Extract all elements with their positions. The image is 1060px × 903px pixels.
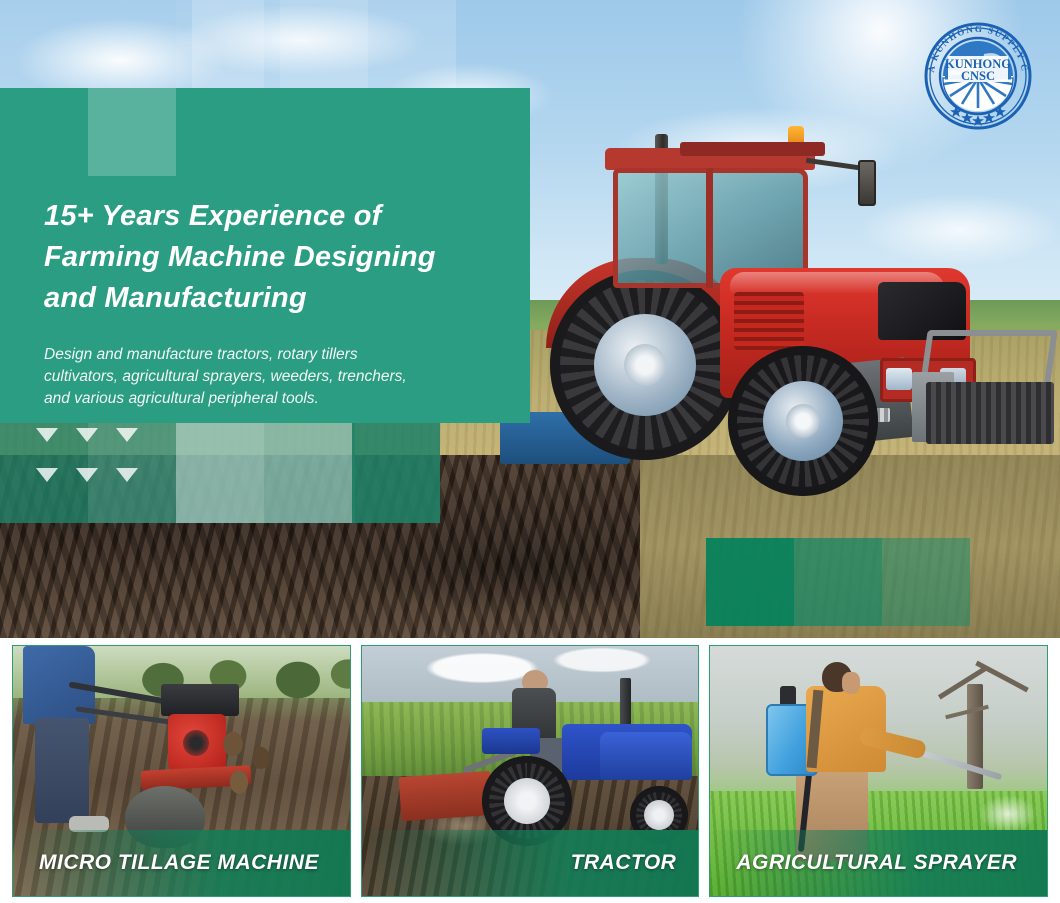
hero-banner: 15+ Years Experience of Farming Machine … [0,0,1060,638]
mosaic-tile-translucent [352,423,440,523]
mosaic-tile-accent [794,538,882,626]
company-seal-icon: KUNHONG CNSC CHINA KUNHONG SUPPLY CHAIN [918,16,1038,136]
subcopy-line-3: and various agricultural peripheral tool… [44,388,514,410]
chevron-down-icon [76,428,98,442]
chevron-down-icon [76,468,98,482]
chevron-down-icon [116,468,138,482]
product-card-micro-tillage-machine[interactable]: MICRO TILLAGE MACHINE [12,645,351,897]
card3-operator-face [842,672,860,694]
headline-line-2: Farming Machine Designing [44,237,514,278]
product-card-agricultural-sprayer[interactable]: AGRICULTURAL SPRAYER [709,645,1048,897]
mosaic-tile-accent [706,538,794,626]
mosaic-tile-light [88,88,176,176]
tractor-roof-light-bar [680,142,825,156]
card2-tractor-seat [482,728,540,754]
tractor-hood-vent [734,292,804,350]
card-label-bar: MICRO TILLAGE MACHINE [13,830,350,896]
tractor-headlight-left [886,368,912,390]
subcopy-line-2: cultivators, agricultural sprayers, weed… [44,366,514,388]
chevron-down-icon [36,428,58,442]
card-label-text: AGRICULTURAL SPRAYER [736,851,1017,875]
card-label-bar: TRACTOR [362,830,699,896]
chevron-decoration-grid [36,428,156,500]
tractor-rear-hub [624,344,666,386]
card2-rear-rim [504,778,550,824]
headline-line-3: and Manufacturing [44,278,514,319]
tractor-front-hub [786,404,820,438]
mosaic-tile-accent [882,538,970,626]
mosaic-tile [280,0,368,88]
banner-page: 15+ Years Experience of Farming Machine … [0,0,1060,903]
hero-subcopy: Design and manufacture tractors, rotary … [44,344,514,410]
product-card-tractor[interactable]: TRACTOR [361,645,700,897]
card2-tractor-hood [600,732,692,780]
chevron-down-icon [36,468,58,482]
mosaic-tile [368,0,456,88]
card3-bare-tree [925,654,1035,784]
card3-tree-branch [976,661,1030,693]
tractor-side-mirror [858,160,876,206]
tractor-cab-pillar [706,168,713,288]
company-logo[interactable]: KUNHONG CNSC CHINA KUNHONG SUPPLY CHAIN [918,16,1038,136]
card1-operator-legs [35,718,89,823]
card-label-bar: AGRICULTURAL SPRAYER [710,830,1047,896]
mosaic-tile-translucent [264,423,352,523]
headline-line-1: 15+ Years Experience of [44,196,514,237]
mosaic-tile-translucent [176,423,264,523]
hero-headline: 15+ Years Experience of Farming Machine … [44,196,514,319]
card2-front-rim [644,800,674,830]
card1-engine-pulley [183,730,209,756]
card1-rotary-tines [213,724,283,814]
chevron-down-icon [116,428,138,442]
card2-red-rotary-tiller [398,771,493,821]
mosaic-tile [0,0,88,88]
hero-copy-block: 15+ Years Experience of Farming Machine … [44,196,514,410]
subcopy-line-1: Design and manufacture tractors, rotary … [44,344,514,366]
card1-fuel-tank [161,684,239,716]
card-label-text: TRACTOR [571,851,677,875]
mosaic-tile [192,0,280,88]
mosaic-tile [88,0,176,88]
product-card-row: MICRO TILLAGE MACHINE [0,645,1060,903]
red-tractor-illustration [520,120,1060,520]
card-label-text: MICRO TILLAGE MACHINE [39,851,319,875]
logo-inner-line2: CNSC [961,69,995,83]
tractor-front-weight [926,382,1054,444]
